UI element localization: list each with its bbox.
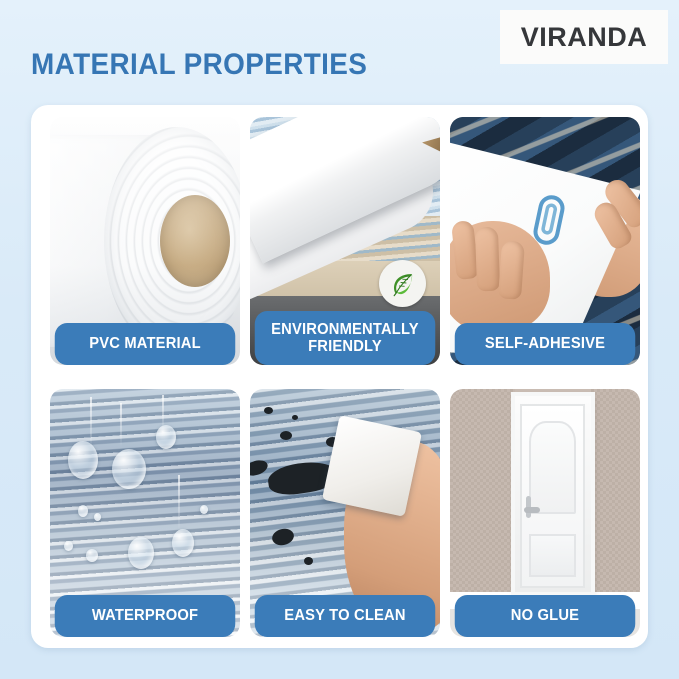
feature-card-self-adhesive[interactable]: SELF-ADHESIVE bbox=[450, 117, 640, 365]
page-title: MATERIAL PROPERTIES bbox=[31, 48, 367, 82]
leaf-icon bbox=[379, 260, 426, 307]
feature-card-no-glue[interactable]: NO GLUE bbox=[450, 389, 640, 637]
feature-label-pvc-material: PVC MATERIAL bbox=[55, 323, 236, 365]
feature-card-easy-to-clean[interactable]: EASY TO CLEAN bbox=[250, 389, 440, 637]
feature-label-easy-to-clean: EASY TO CLEAN bbox=[255, 595, 436, 637]
feature-label-line-1: ENVIRONMENTALLY bbox=[271, 321, 419, 338]
feature-card-pvc-material[interactable]: PVC MATERIAL bbox=[50, 117, 240, 365]
brand-logo-box: VIRANDA bbox=[500, 10, 668, 64]
feature-card-environmentally-friendly[interactable]: ENVIRONMENTALLY FRIENDLY bbox=[250, 117, 440, 365]
feature-label-environmentally-friendly: ENVIRONMENTALLY FRIENDLY bbox=[255, 311, 436, 365]
brand-logo-text: VIRANDA bbox=[521, 22, 648, 53]
feature-panel: PVC MATERIAL bbox=[31, 105, 648, 648]
feature-card-waterproof[interactable]: WATERPROOF bbox=[50, 389, 240, 637]
feature-label-line-2: FRIENDLY bbox=[271, 338, 419, 355]
feature-grid: PVC MATERIAL bbox=[50, 117, 640, 637]
feature-label-no-glue: NO GLUE bbox=[455, 595, 636, 637]
feature-label-self-adhesive: SELF-ADHESIVE bbox=[455, 323, 636, 365]
feature-label-waterproof: WATERPROOF bbox=[55, 595, 236, 637]
